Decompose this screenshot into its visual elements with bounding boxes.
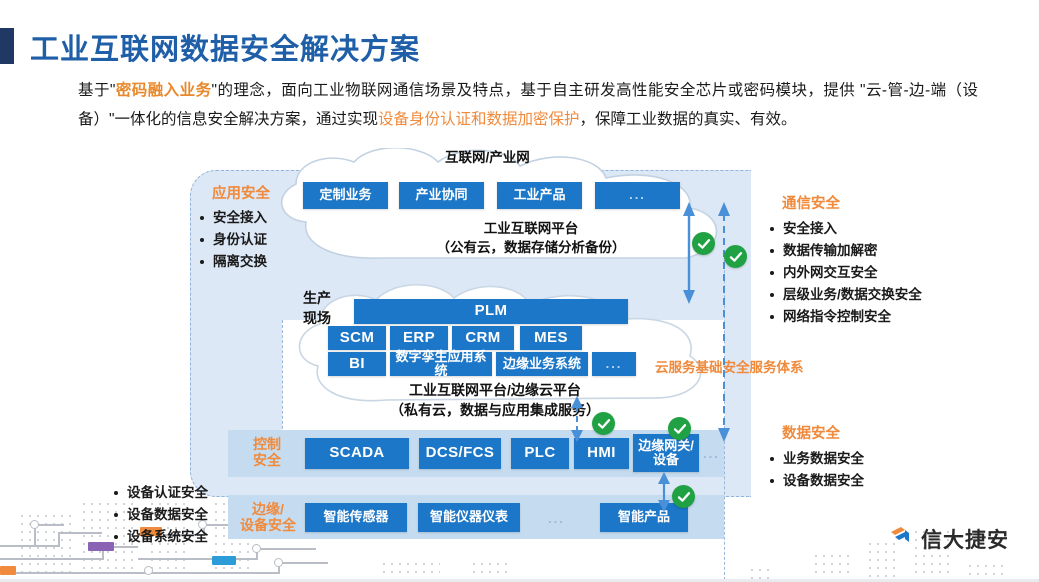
title-accent-bar <box>0 28 14 64</box>
top-cloud-caption-line2: （公有云，数据存储分析备份） <box>401 238 661 257</box>
prod-box-crm[interactable]: CRM <box>452 326 514 350</box>
data-sec-item-1: 设备数据安全 <box>768 470 864 492</box>
internet-cloud-title: 互联网/产业网 <box>445 148 530 167</box>
group-data-security-title: 数据安全 <box>782 422 864 443</box>
comm-sec-item-2: 内外网交互安全 <box>768 262 922 284</box>
edge-box-more: ... <box>548 512 565 527</box>
page-title: 工业互联网数据安全解决方案 <box>30 26 420 68</box>
comm-sec-item-3: 层级业务/数据交换安全 <box>768 284 922 306</box>
edge-box-smart-product[interactable]: 智能产品 <box>600 503 688 532</box>
prod-box-plm[interactable]: PLM <box>354 299 628 324</box>
control-security-line2: 安全 <box>246 452 288 468</box>
comm-sec-item-4: 网络指令控制安全 <box>768 306 922 328</box>
top-box-3[interactable]: ... <box>595 182 680 209</box>
prod-box-scm[interactable]: SCM <box>328 326 386 350</box>
edge-security-line1: 边缘/ <box>238 501 298 517</box>
data-sec-item-0: 业务数据安全 <box>768 448 864 470</box>
control-box-edge-gateway[interactable]: 边缘网关/ 设备 <box>633 434 699 472</box>
group-device-security: 设备认证安全 设备数据安全 设备系统安全 <box>112 482 208 548</box>
check-badge-edge <box>672 485 695 508</box>
check-badge-production <box>592 412 615 435</box>
edge-security-label: 边缘/ 设备安全 <box>238 501 298 533</box>
top-box-0[interactable]: 定制业务 <box>303 182 388 209</box>
control-box-scada[interactable]: SCADA <box>305 438 409 469</box>
production-site-line2: 现场 <box>303 308 331 328</box>
app-sec-item-2: 隔离交换 <box>198 251 270 273</box>
app-sec-item-1: 身份认证 <box>198 229 270 251</box>
device-sec-item-0: 设备认证安全 <box>112 482 208 504</box>
prod-box-more[interactable]: ... <box>592 352 636 376</box>
edge-security-line2: 设备安全 <box>238 517 298 533</box>
group-communication-security: 通信安全 安全接入 数据传输加解密 内外网交互安全 层级业务/数据交换安全 网络… <box>768 192 922 328</box>
prod-box-erp[interactable]: ERP <box>390 326 448 350</box>
device-sec-item-2: 设备系统安全 <box>112 526 208 548</box>
top-cloud-caption: 工业互联网平台 （公有云，数据存储分析备份） <box>401 219 661 257</box>
subtitle-paragraph: 基于"密码融入业务"的理念，面向工业物联网通信场景及特点，基于自主研发高性能安全… <box>78 76 978 134</box>
production-site-line1: 生产 <box>303 288 331 308</box>
logo-mark-icon <box>889 525 915 554</box>
group-application-security: 应用安全 安全接入 身份认证 隔离交换 <box>198 182 270 273</box>
top-box-1[interactable]: 产业协同 <box>399 182 484 209</box>
arrow-control-to-edge <box>656 472 672 517</box>
brand-name: 信大捷安 <box>921 524 1009 554</box>
check-badge-cloud <box>692 232 715 255</box>
slide-root: 工业互联网数据安全解决方案 基于"密码融入业务"的理念，面向工业物联网通信场景及… <box>0 0 1039 582</box>
app-sec-item-0: 安全接入 <box>198 207 270 229</box>
comm-sec-item-1: 数据传输加解密 <box>768 240 922 262</box>
arrow-production-to-control <box>569 396 585 447</box>
brand-logo: 信大捷安 <box>889 524 1009 554</box>
control-box-dcs-fcs[interactable]: DCS/FCS <box>419 438 501 469</box>
arrow-end-to-cloud-dashed <box>716 202 732 447</box>
prod-box-bi[interactable]: BI <box>328 352 386 376</box>
edge-box-smart-sensor[interactable]: 智能传感器 <box>305 503 407 532</box>
control-security-label: 控制 安全 <box>246 436 288 468</box>
prod-box-digital-twin[interactable]: 数字孪生应用系统 <box>390 352 492 376</box>
prod-box-mes[interactable]: MES <box>520 326 582 350</box>
control-security-line1: 控制 <box>246 436 288 452</box>
top-cloud-caption-line1: 工业互联网平台 <box>401 219 661 238</box>
arrow-cloud-to-production <box>681 202 697 309</box>
prod-box-edge-business[interactable]: 边缘业务系统 <box>496 352 588 376</box>
group-data-security: 数据安全 业务数据安全 设备数据安全 <box>768 422 864 492</box>
control-box-more: ... <box>703 447 720 462</box>
check-badge-control <box>668 417 691 440</box>
top-box-2[interactable]: 工业产品 <box>497 182 582 209</box>
subtitle-seg-4: ，保障工业数据的真实、有效。 <box>580 111 797 128</box>
device-sec-item-1: 设备数据安全 <box>112 504 208 526</box>
edge-box-smart-instrument[interactable]: 智能仪器仪表 <box>418 503 520 532</box>
control-box-plc[interactable]: PLC <box>511 438 569 469</box>
architecture-diagram: 互联网/产业网 定制业务 产业协同 工业产品 ... 工业互联网平台 （公有云，… <box>0 140 1039 550</box>
subtitle-seg-0: 基于" <box>78 82 115 99</box>
group-application-security-title: 应用安全 <box>212 182 270 203</box>
comm-sec-item-0: 安全接入 <box>768 218 922 240</box>
subtitle-highlight-1: 密码融入业务 <box>115 82 211 99</box>
check-badge-comm <box>724 245 747 268</box>
group-communication-security-title: 通信安全 <box>782 192 922 213</box>
subtitle-highlight-2: 设备身份认证和数据加密保护 <box>378 111 580 128</box>
production-caption-line1: 工业互联网平台/边缘云平台 <box>340 380 650 400</box>
production-site-label: 生产 现场 <box>303 288 331 328</box>
